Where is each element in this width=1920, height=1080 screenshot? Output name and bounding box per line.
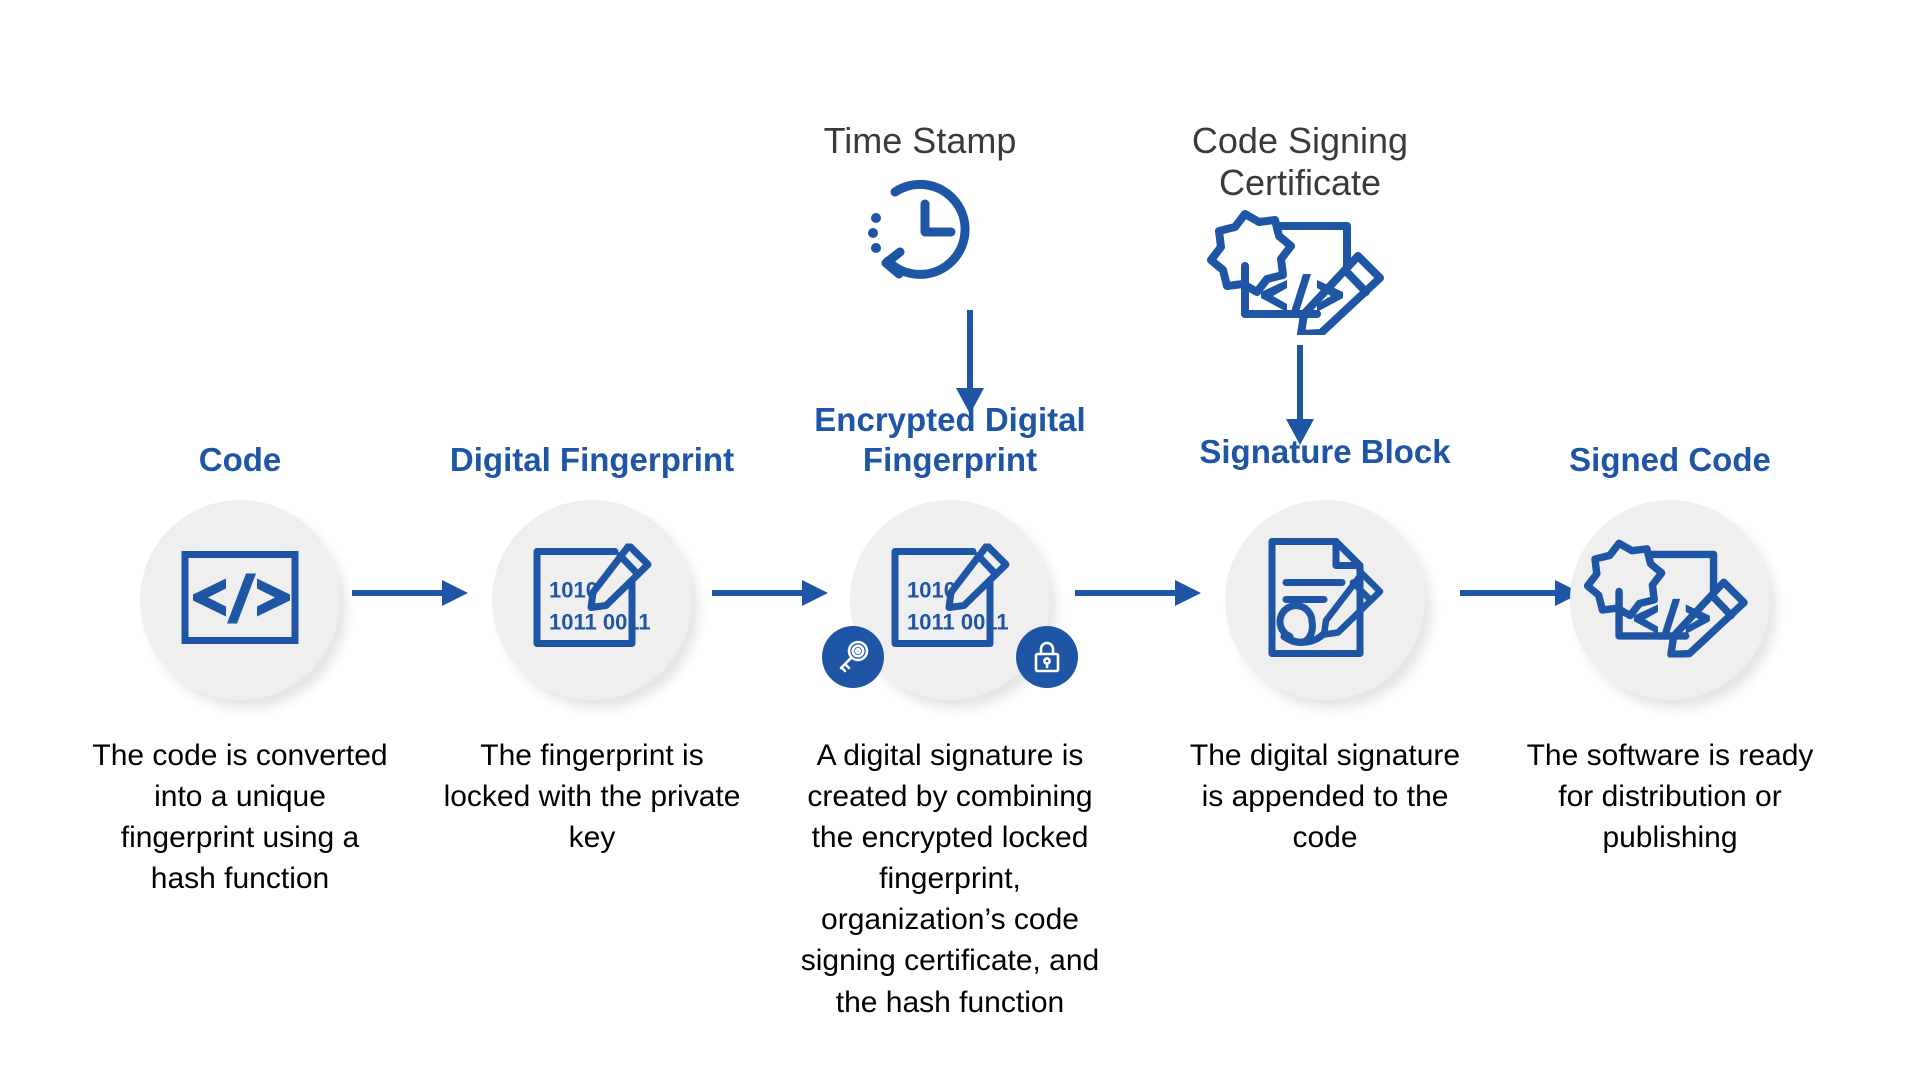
step-signature-block-title: Signature Block — [1175, 432, 1475, 472]
step-code-caption: The code is converted into a unique fing… — [90, 735, 390, 899]
step-code-icon-circle — [140, 500, 340, 700]
step-code-title: Code — [90, 440, 390, 480]
step-signature-block-icon-circle — [1225, 500, 1425, 700]
step-encrypted-digital-fingerprint-icon-circle: 1010 1011 0011 — [850, 500, 1050, 700]
lock-icon-badge — [1016, 626, 1078, 688]
binary-line-2: 1011 0011 — [549, 610, 651, 635]
step-signed-code-caption: The software is ready for distribution o… — [1520, 735, 1820, 858]
key-icon — [833, 637, 873, 677]
step-digital-fingerprint-icon-circle: 1010 1011 0011 — [492, 500, 692, 700]
binary-document-pencil-icon: 1010 1011 0011 — [529, 544, 655, 657]
step-digital-fingerprint-caption: The fingerprint is locked with the priva… — [442, 735, 742, 858]
lock-icon — [1028, 637, 1066, 677]
code-brackets-icon — [180, 550, 300, 651]
key-icon-badge — [822, 626, 884, 688]
binary-line-1: 1010 — [549, 578, 598, 603]
step-digital-fingerprint: Digital Fingerprint 1010 1011 0011 The f… — [442, 0, 742, 1080]
step-encrypted-digital-fingerprint-caption: A digital signature is created by combin… — [800, 735, 1100, 1023]
step-signed-code-title: Signed Code — [1520, 440, 1820, 480]
step-signed-code: Signed Code — [1520, 0, 1820, 1080]
step-signature-block-caption: The digital signature is appended to the… — [1175, 735, 1475, 858]
signed-document-pencil-icon — [1264, 536, 1386, 665]
diagram-canvas: Time Stamp Code Signing Ce — [0, 0, 1920, 1080]
binary-line-2: 1011 0011 — [907, 610, 1009, 635]
step-digital-fingerprint-title: Digital Fingerprint — [442, 440, 742, 480]
binary-line-1: 1010 — [907, 578, 956, 603]
step-signed-code-icon-circle — [1570, 500, 1770, 700]
step-signature-block: Signature Block — [1175, 0, 1475, 1080]
binary-document-pencil-icon: 1010 1011 0011 — [887, 544, 1013, 657]
step-code: Code The code is converted into a unique… — [90, 0, 390, 1080]
certificate-code-pencil-icon — [1582, 538, 1758, 663]
step-encrypted-digital-fingerprint: Encrypted Digital Fingerprint 1010 1011 … — [800, 0, 1100, 1080]
step-encrypted-digital-fingerprint-title: Encrypted Digital Fingerprint — [800, 400, 1100, 481]
